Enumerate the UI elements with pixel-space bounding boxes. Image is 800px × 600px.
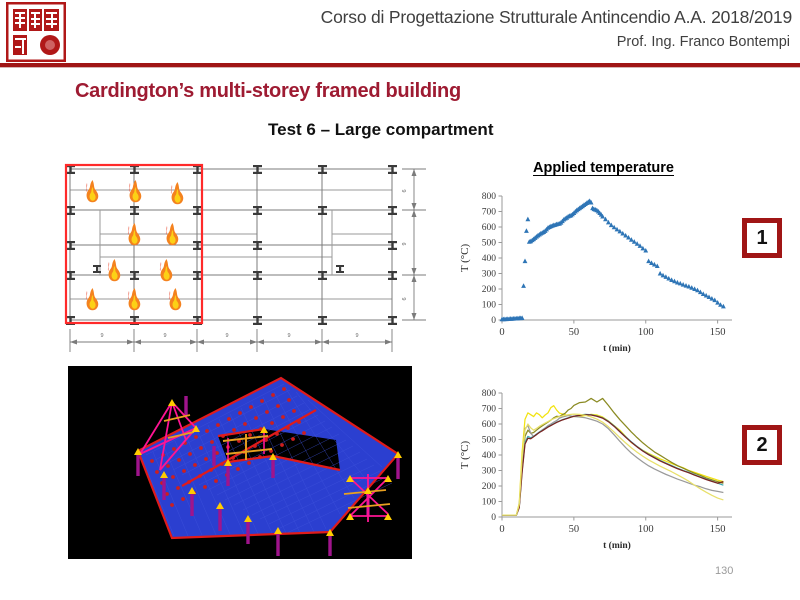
svg-text:0: 0 <box>499 524 504 535</box>
course-title: Corso di Progettazione Strutturale Antin… <box>120 4 792 30</box>
svg-text:50: 50 <box>569 524 580 535</box>
svg-text:9: 9 <box>100 333 103 339</box>
svg-text:700: 700 <box>482 405 497 415</box>
svg-text:0: 0 <box>491 316 496 326</box>
header-divider-shadow <box>0 67 800 68</box>
svg-text:9: 9 <box>402 242 408 245</box>
svg-text:800: 800 <box>482 389 497 399</box>
slide-header: Corso di Progettazione Strutturale Antin… <box>0 0 800 66</box>
page-number: 130 <box>715 565 733 577</box>
fb-seal-logo <box>6 2 66 62</box>
chart1-badge: 1 <box>742 218 782 258</box>
measured-temperatures-chart: 0100200300400500600700800050100150t (min… <box>450 385 740 560</box>
header-text-block: Corso di Progettazione Strutturale Antin… <box>120 4 792 54</box>
svg-text:600: 600 <box>482 223 497 233</box>
svg-text:200: 200 <box>482 285 497 295</box>
svg-text:800: 800 <box>482 192 497 202</box>
svg-text:200: 200 <box>482 482 497 492</box>
cardington-floor-plan: 999 99 6 9 6 <box>52 157 430 357</box>
applied-temperature-chart: 0100200300400500600700800050100150t (min… <box>450 188 740 363</box>
svg-text:6: 6 <box>402 297 408 300</box>
svg-text:9: 9 <box>287 333 290 339</box>
svg-text:150: 150 <box>710 524 726 535</box>
svg-text:150: 150 <box>710 327 726 338</box>
svg-text:300: 300 <box>482 467 497 477</box>
svg-text:0: 0 <box>499 327 504 338</box>
svg-text:t (min): t (min) <box>603 343 631 354</box>
professor-name: Prof. Ing. Franco Bontempi <box>120 30 792 54</box>
svg-text:600: 600 <box>482 420 497 430</box>
svg-text:9: 9 <box>163 333 166 339</box>
svg-text:6: 6 <box>402 189 408 192</box>
svg-text:400: 400 <box>482 254 497 264</box>
svg-text:400: 400 <box>482 451 497 461</box>
page-subtitle: Test 6 – Large compartment <box>268 120 493 140</box>
svg-text:300: 300 <box>482 270 497 280</box>
svg-text:t (min): t (min) <box>603 540 631 551</box>
svg-text:700: 700 <box>482 208 497 218</box>
svg-text:0: 0 <box>491 513 496 523</box>
svg-text:500: 500 <box>482 436 497 446</box>
svg-text:50: 50 <box>569 327 580 338</box>
svg-text:100: 100 <box>638 327 654 338</box>
svg-text:100: 100 <box>482 301 497 311</box>
page-title: Cardington’s multi-storey framed buildin… <box>75 80 461 103</box>
chart2-badge: 2 <box>742 425 782 465</box>
fem-3d-model <box>68 366 412 559</box>
svg-text:9: 9 <box>225 333 228 339</box>
svg-text:100: 100 <box>638 524 654 535</box>
svg-text:T (°C): T (°C) <box>459 244 471 273</box>
svg-text:T (°C): T (°C) <box>459 441 471 470</box>
chart1-title: Applied temperature <box>533 160 674 176</box>
svg-text:9: 9 <box>355 333 358 339</box>
svg-text:100: 100 <box>482 498 497 508</box>
svg-text:500: 500 <box>482 239 497 249</box>
